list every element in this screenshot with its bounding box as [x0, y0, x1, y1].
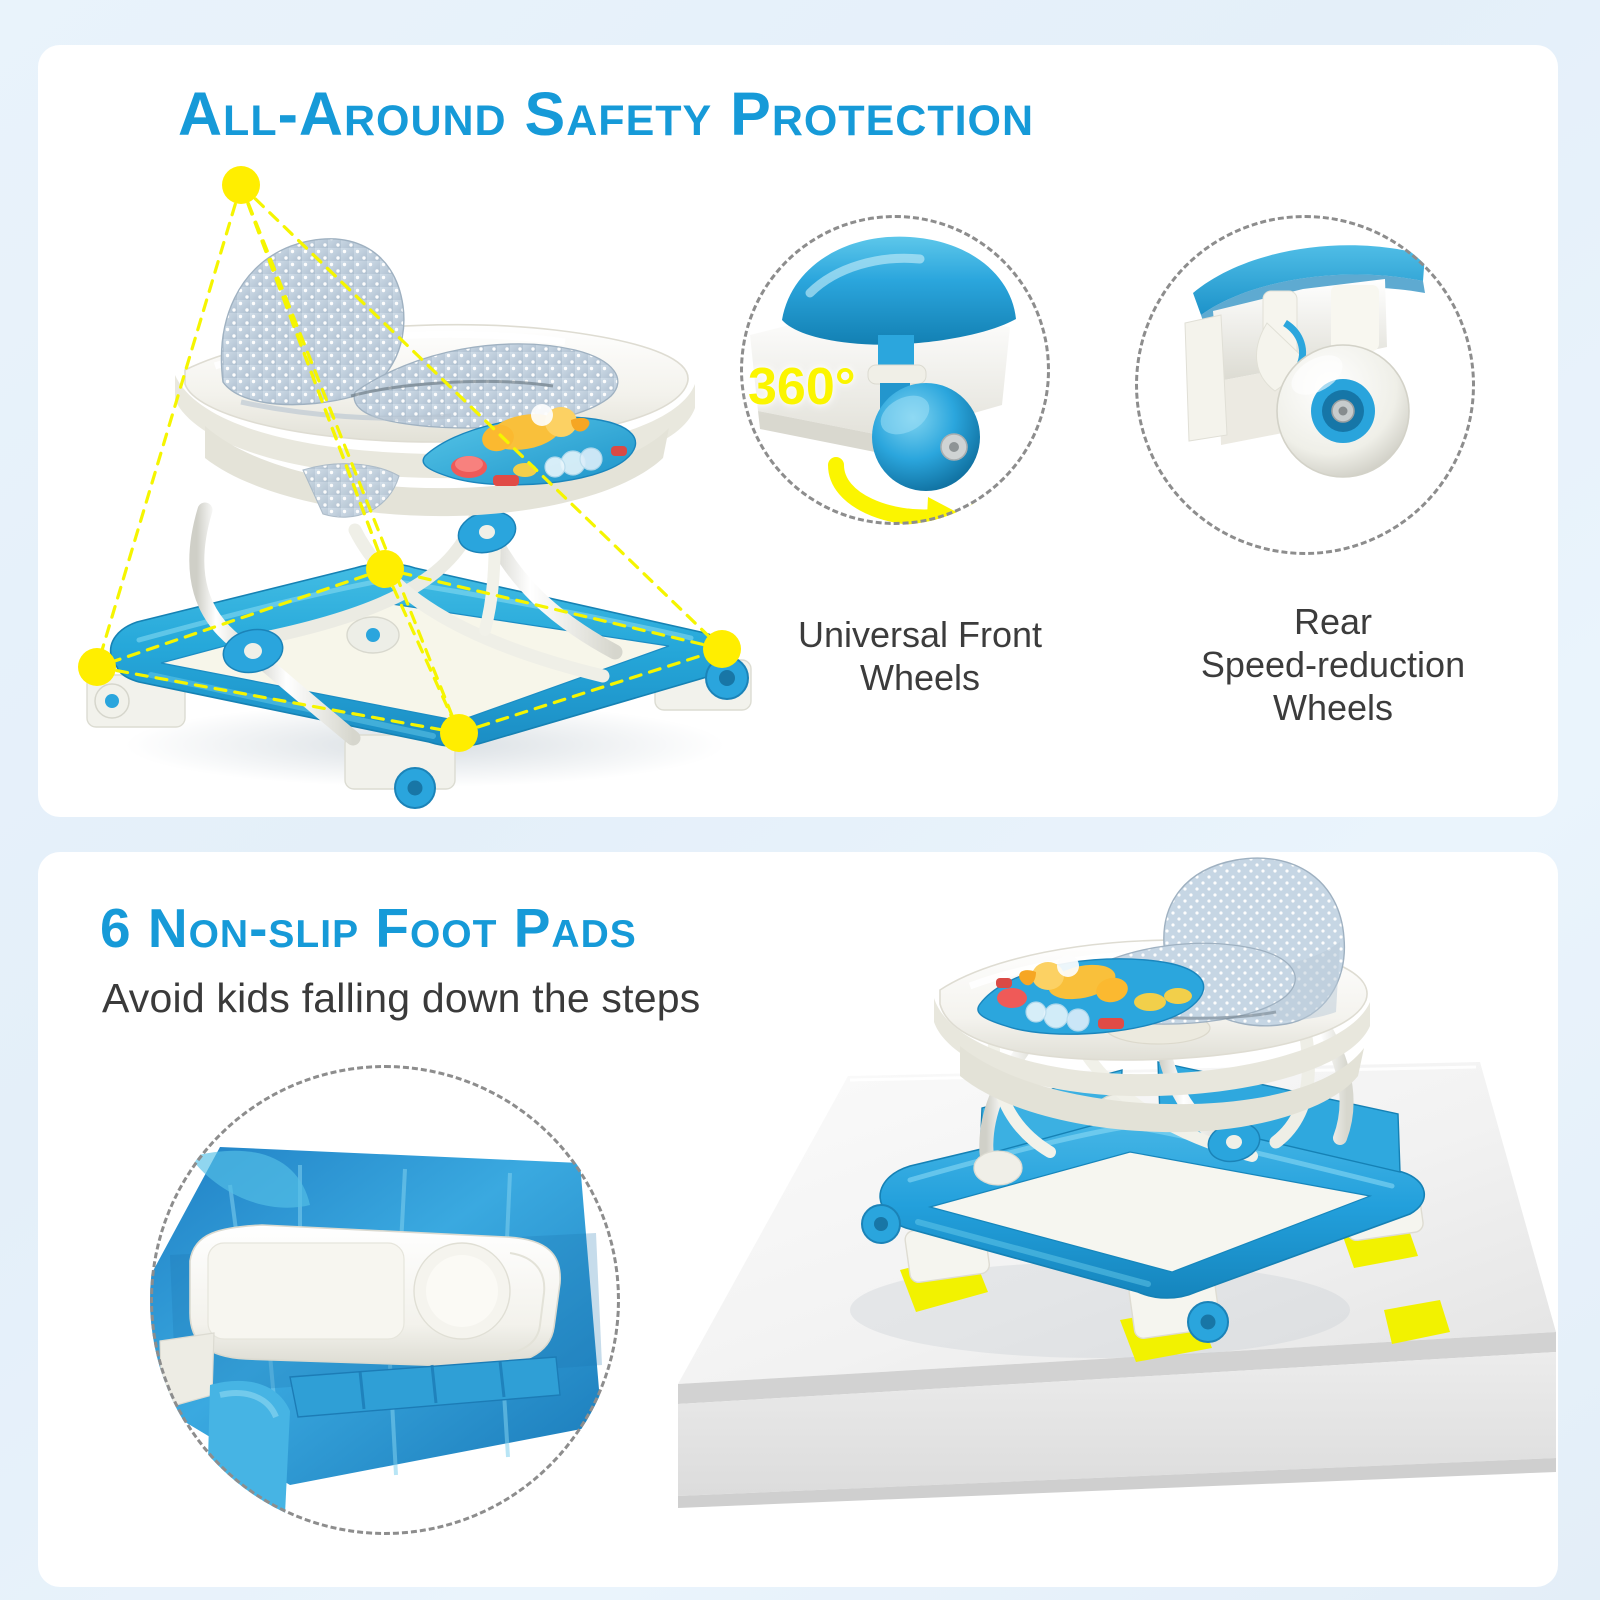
caption-rear-line2: Speed-reduction: [1148, 643, 1518, 686]
foot-pads-title: 6 Non-slip Foot Pads: [100, 895, 637, 961]
inset-rear-wheels: [1135, 215, 1475, 585]
caption-front-line1: Universal Front: [755, 613, 1085, 656]
walker-on-step-image: [600, 880, 1560, 1540]
caption-rear-line1: Rear: [1148, 600, 1518, 643]
caption-front-line2: Wheels: [755, 656, 1085, 699]
page-background: All-Around Safety Protection: [0, 0, 1600, 1600]
dashed-circle-icon: [150, 1065, 620, 1535]
inset-foot-pad-closeup: [150, 1065, 620, 1535]
caption-front-wheels: Universal Front Wheels: [755, 613, 1085, 699]
page-title: All-Around Safety Protection: [178, 78, 1034, 150]
caption-rear-line3: Wheels: [1148, 686, 1518, 729]
badge-360: 360°: [748, 357, 856, 417]
main-product-image: [55, 170, 775, 790]
inset-universal-front-wheels: 360°: [740, 215, 1050, 585]
caption-rear-wheels: Rear Speed-reduction Wheels: [1148, 600, 1518, 729]
dashed-circle-icon: [1135, 215, 1475, 555]
